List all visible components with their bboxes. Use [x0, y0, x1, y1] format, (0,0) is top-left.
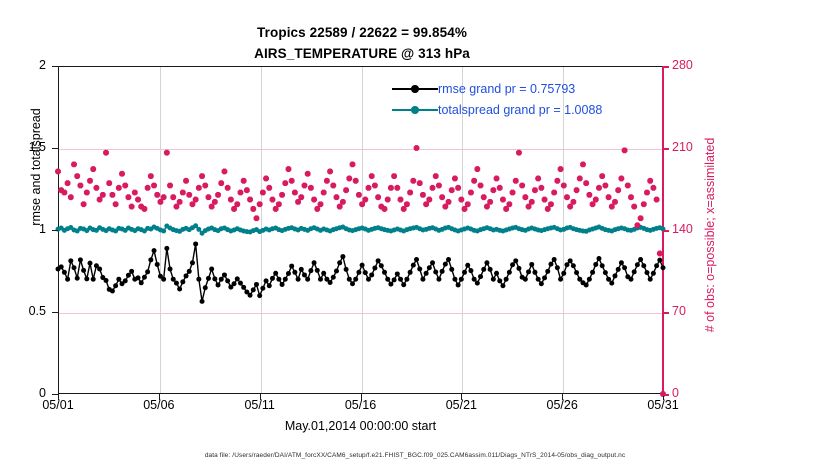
series-point	[459, 277, 464, 282]
obs-marker	[229, 197, 233, 201]
obs-marker	[88, 179, 92, 183]
obs-marker	[136, 197, 140, 201]
obs-marker	[200, 174, 204, 178]
obs-marker	[558, 167, 562, 171]
x-axis-tick-label: 05/06	[129, 398, 189, 412]
x-axis-tick-label: 05/31	[633, 398, 693, 412]
series-point	[104, 278, 109, 283]
obs-marker	[197, 186, 201, 190]
obs-marker	[171, 195, 175, 199]
series-point	[136, 275, 141, 280]
series-point	[590, 270, 595, 275]
series-point	[110, 289, 115, 294]
obs-marker	[318, 202, 322, 206]
series-point	[443, 262, 448, 267]
obs-marker	[446, 200, 450, 204]
series-point	[168, 267, 173, 272]
obs-marker	[482, 195, 486, 199]
series-point	[555, 265, 560, 270]
obs-marker	[114, 202, 118, 206]
series-point	[427, 265, 432, 270]
series-point	[334, 269, 339, 274]
chart-title-line1: Tropics 22589 / 22622 = 99.854%	[0, 22, 724, 43]
series-point	[657, 258, 662, 263]
obs-marker	[322, 190, 326, 194]
series-point	[468, 268, 473, 273]
obs-marker	[254, 216, 258, 220]
obs-marker	[245, 188, 249, 192]
obs-marker	[299, 195, 303, 199]
obs-marker	[456, 186, 460, 190]
obs-marker	[434, 174, 438, 178]
series-point	[446, 257, 451, 262]
y-axis-tick-left	[52, 230, 58, 231]
obs-marker	[354, 179, 358, 183]
obs-marker	[549, 202, 553, 206]
series-point	[641, 263, 646, 268]
series-point	[622, 265, 627, 270]
legend-marker-totalspread	[392, 104, 438, 116]
obs-marker	[469, 190, 473, 194]
series-point	[276, 277, 281, 282]
y-axis-tick-label-left: 1	[2, 222, 46, 236]
x-axis-tick-label: 05/11	[230, 398, 290, 412]
obs-marker	[600, 174, 604, 178]
obs-marker	[517, 151, 521, 155]
obs-marker	[536, 176, 540, 180]
obs-marker	[606, 195, 610, 199]
series-point	[366, 277, 371, 282]
obs-marker	[325, 179, 329, 183]
series-point	[315, 268, 320, 273]
obs-marker	[597, 186, 601, 190]
obs-marker	[165, 151, 169, 155]
series-point	[436, 277, 441, 282]
obs-marker	[622, 148, 626, 152]
obs-marker	[546, 207, 550, 211]
y-axis-tick-left	[52, 66, 58, 67]
obs-marker	[562, 183, 566, 187]
series-point	[187, 269, 192, 274]
y-axis-tick-label-right: 140	[672, 222, 712, 236]
obs-marker	[510, 190, 514, 194]
obs-marker	[162, 195, 166, 199]
series-point	[72, 265, 77, 270]
series-point	[561, 271, 566, 276]
series-point	[222, 272, 227, 277]
legend-item-rmse[interactable]: rmse grand pr = 0.75793	[392, 78, 602, 99]
series-point	[628, 277, 633, 282]
series-point	[190, 260, 195, 265]
series-point	[321, 271, 326, 276]
obs-marker	[206, 195, 210, 199]
series-point	[280, 282, 285, 287]
series-point	[424, 271, 429, 276]
obs-marker	[472, 179, 476, 183]
obs-marker	[72, 162, 76, 166]
y-axis-tick-left	[52, 394, 58, 395]
series-point	[260, 286, 265, 291]
obs-marker	[334, 195, 338, 199]
obs-marker	[117, 186, 121, 190]
series-point	[337, 260, 342, 265]
series-point	[411, 263, 416, 268]
obs-marker	[56, 169, 60, 173]
obs-marker	[507, 202, 511, 206]
series-point	[478, 274, 483, 279]
series-point	[161, 277, 166, 282]
series-point	[536, 277, 541, 282]
obs-marker	[216, 193, 220, 197]
series-point	[209, 267, 214, 272]
obs-marker	[274, 207, 278, 211]
series-point	[286, 271, 291, 276]
obs-marker	[104, 151, 108, 155]
obs-marker	[312, 197, 316, 201]
series-point	[452, 277, 457, 282]
legend-label-totalspread: totalspread grand pr = 1.0088	[438, 103, 602, 117]
obs-marker	[539, 186, 543, 190]
series-point	[376, 258, 381, 263]
obs-marker	[610, 204, 614, 208]
series-point	[65, 277, 70, 282]
series-point	[379, 263, 384, 268]
series-point	[270, 276, 275, 281]
series-point	[292, 270, 297, 275]
series-point	[184, 273, 189, 278]
y-axis-tick-label-left: 0.5	[2, 304, 46, 318]
x-axis-tick-label: 05/01	[28, 398, 88, 412]
obs-marker	[238, 190, 242, 194]
series-point	[164, 246, 169, 251]
obs-marker	[248, 197, 252, 201]
obs-marker	[402, 207, 406, 211]
obs-marker	[85, 190, 89, 194]
series-point	[372, 266, 377, 271]
obs-marker	[264, 176, 268, 180]
series-point	[616, 267, 621, 272]
series-point	[267, 283, 272, 288]
obs-marker	[235, 202, 239, 206]
obs-marker	[405, 202, 409, 206]
series-point	[571, 263, 576, 268]
obs-marker	[283, 181, 287, 185]
y-axis-tick-label-right: 0	[672, 386, 712, 400]
series-point	[494, 271, 499, 276]
obs-marker	[424, 202, 428, 206]
obs-marker	[363, 197, 367, 201]
series-point	[212, 276, 217, 281]
obs-marker	[328, 169, 332, 173]
series-point	[203, 285, 208, 290]
obs-marker	[488, 200, 492, 204]
series-point	[161, 228, 166, 233]
obs-marker	[152, 183, 156, 187]
series-point	[129, 269, 134, 274]
obs-marker	[210, 204, 214, 208]
series-point	[574, 270, 579, 275]
obs-marker	[568, 204, 572, 208]
obs-marker	[155, 193, 159, 197]
series-point	[360, 263, 365, 268]
series-point	[456, 282, 461, 287]
obs-marker	[411, 179, 415, 183]
obs-marker	[523, 195, 527, 199]
obs-marker	[158, 200, 162, 204]
obs-marker	[190, 202, 194, 206]
obs-marker	[382, 207, 386, 211]
obs-marker	[338, 204, 342, 208]
series-point	[142, 275, 147, 280]
series-point	[568, 258, 573, 263]
series-point	[318, 277, 323, 282]
series-point	[465, 263, 470, 268]
obs-marker	[91, 167, 95, 171]
legend-item-totalspread[interactable]: totalspread grand pr = 1.0088	[392, 99, 602, 120]
obs-marker	[366, 186, 370, 190]
y-axis-label-left: rmse and totalspread	[29, 37, 43, 297]
obs-marker	[414, 146, 418, 150]
obs-marker	[552, 190, 556, 194]
series-point	[388, 282, 393, 287]
obs-marker	[174, 204, 178, 208]
obs-marker	[594, 197, 598, 201]
series-point	[200, 299, 205, 304]
y-axis-tick-right	[663, 66, 669, 68]
y-axis-tick-right	[663, 394, 669, 396]
obs-marker	[306, 172, 310, 176]
series-point	[123, 278, 128, 283]
chart-title: Tropics 22589 / 22622 = 99.854% AIRS_TEM…	[0, 22, 724, 64]
y-axis-tick-left	[52, 148, 58, 149]
series-point	[308, 268, 313, 273]
series-point	[612, 273, 617, 278]
obs-marker	[443, 204, 447, 208]
obs-marker	[501, 197, 505, 201]
obs-marker	[581, 162, 585, 166]
series-point	[369, 272, 374, 277]
series-point	[516, 266, 521, 271]
obs-marker	[123, 183, 127, 187]
obs-marker	[504, 207, 508, 211]
series-point	[340, 254, 345, 259]
obs-marker	[578, 176, 582, 180]
y-axis-tick-label-left: 2	[2, 58, 46, 72]
obs-marker	[69, 195, 73, 199]
obs-marker	[146, 186, 150, 190]
series-point	[216, 282, 221, 287]
obs-marker	[251, 207, 255, 211]
series-point	[344, 267, 349, 272]
y-axis-tick-right	[663, 230, 669, 232]
obs-marker	[466, 202, 470, 206]
series-point	[491, 277, 496, 282]
series-point	[648, 277, 653, 282]
obs-marker	[520, 183, 524, 187]
series-point	[481, 267, 486, 272]
series-point	[177, 287, 182, 292]
series-point	[606, 277, 611, 282]
series-point	[148, 257, 153, 262]
series-point	[206, 276, 211, 281]
series-point	[238, 281, 243, 286]
series-point	[235, 276, 240, 281]
obs-marker	[421, 193, 425, 197]
y-axis-tick-label-right: 210	[672, 140, 712, 154]
obs-marker	[286, 167, 290, 171]
series-point	[449, 267, 454, 272]
series-point	[488, 267, 493, 272]
obs-marker	[277, 202, 281, 206]
series-point	[504, 277, 509, 282]
series-point	[619, 260, 624, 265]
x-axis-tick-label: 05/21	[431, 398, 491, 412]
obs-marker	[94, 186, 98, 190]
series-point	[328, 280, 333, 285]
series-point	[596, 256, 601, 261]
obs-marker	[213, 200, 217, 204]
obs-marker	[398, 197, 402, 201]
obs-marker	[651, 186, 655, 190]
obs-marker	[574, 188, 578, 192]
series-point	[91, 277, 96, 282]
y-axis-tick-label-right: 280	[672, 58, 712, 72]
series-point	[180, 279, 185, 284]
series-point	[462, 270, 467, 275]
series-point	[472, 277, 477, 282]
obs-marker	[526, 204, 530, 208]
obs-marker	[498, 186, 502, 190]
series-point	[225, 278, 230, 283]
series-point	[299, 267, 304, 272]
obs-marker	[219, 181, 223, 185]
y-axis-tick-left	[52, 312, 58, 313]
series-point	[196, 227, 201, 232]
legend: rmse grand pr = 0.75793 totalspread gran…	[392, 78, 602, 120]
data-file-footer: data file: /Users/raeder/DAI/ATM_forcXX/…	[0, 452, 830, 459]
series-point	[196, 277, 201, 282]
obs-marker	[142, 207, 146, 211]
obs-marker	[181, 190, 185, 194]
obs-marker	[270, 197, 274, 201]
obs-marker	[392, 174, 396, 178]
legend-label-rmse: rmse grand pr = 0.75793	[438, 82, 575, 96]
obs-marker	[66, 181, 70, 185]
obs-marker	[453, 176, 457, 180]
obs-marker	[584, 181, 588, 185]
series-point	[219, 277, 224, 282]
series-point	[152, 248, 157, 253]
obs-marker	[226, 186, 230, 190]
series-point	[171, 277, 176, 282]
obs-marker	[232, 207, 236, 211]
obs-marker	[587, 193, 591, 197]
x-axis-tick-label: 05/26	[532, 398, 592, 412]
obs-marker	[222, 169, 226, 173]
series-point	[603, 270, 608, 275]
obs-marker	[645, 190, 649, 194]
obs-marker	[107, 181, 111, 185]
obs-marker	[485, 204, 489, 208]
series-point	[433, 269, 438, 274]
series-point	[305, 277, 310, 282]
series-point	[564, 262, 569, 267]
obs-marker	[639, 216, 643, 220]
obs-marker	[626, 183, 630, 187]
obs-marker	[437, 183, 441, 187]
series-point	[296, 277, 301, 282]
series-point	[254, 282, 259, 287]
series-point	[350, 281, 355, 286]
series-point	[497, 278, 502, 283]
series-point	[273, 271, 278, 276]
obs-marker	[655, 197, 659, 201]
obs-marker	[341, 200, 345, 204]
series-point	[414, 257, 419, 262]
obs-marker	[613, 200, 617, 204]
obs-marker	[389, 186, 393, 190]
y-axis-tick-right	[663, 312, 669, 314]
obs-marker	[603, 183, 607, 187]
series-point	[404, 277, 409, 282]
obs-marker	[280, 193, 284, 197]
series-point	[84, 276, 89, 281]
obs-marker	[347, 176, 351, 180]
series-point	[232, 281, 237, 286]
series-point	[59, 264, 64, 269]
series-point	[484, 260, 489, 265]
series-point	[651, 271, 656, 276]
series-point	[392, 277, 397, 282]
series-point	[241, 285, 246, 290]
series-point	[593, 262, 598, 267]
series-point	[312, 260, 317, 265]
obs-marker	[360, 202, 364, 206]
series-point	[174, 281, 179, 286]
obs-marker	[635, 223, 639, 227]
series-point	[385, 277, 390, 282]
obs-marker	[267, 186, 271, 190]
series-point	[97, 267, 102, 272]
obs-marker	[126, 195, 130, 199]
series-point	[526, 269, 531, 274]
obs-marker	[619, 176, 623, 180]
obs-marker	[187, 193, 191, 197]
obs-marker	[168, 183, 172, 187]
obs-marker	[302, 183, 306, 187]
obs-marker	[386, 197, 390, 201]
obs-marker	[616, 188, 620, 192]
obs-marker	[658, 251, 662, 255]
obs-marker	[478, 183, 482, 187]
obs-marker	[78, 183, 82, 187]
obs-marker	[571, 200, 575, 204]
series-point	[507, 270, 512, 275]
obs-marker	[565, 195, 569, 199]
obs-marker	[75, 174, 79, 178]
chart-title-line2: AIRS_TEMPERATURE @ 313 hPa	[0, 43, 724, 64]
obs-marker	[293, 190, 297, 194]
series-point	[513, 258, 518, 263]
obs-marker	[62, 190, 66, 194]
obs-marker	[555, 179, 559, 183]
series-rmse	[56, 241, 666, 303]
x-axis-label: May.01,2014 00:00:00 start	[58, 419, 663, 433]
obs-marker	[350, 162, 354, 166]
series-point	[539, 281, 544, 286]
y-axis-tick-label-left: 1.5	[2, 140, 46, 154]
series-point	[548, 262, 553, 267]
